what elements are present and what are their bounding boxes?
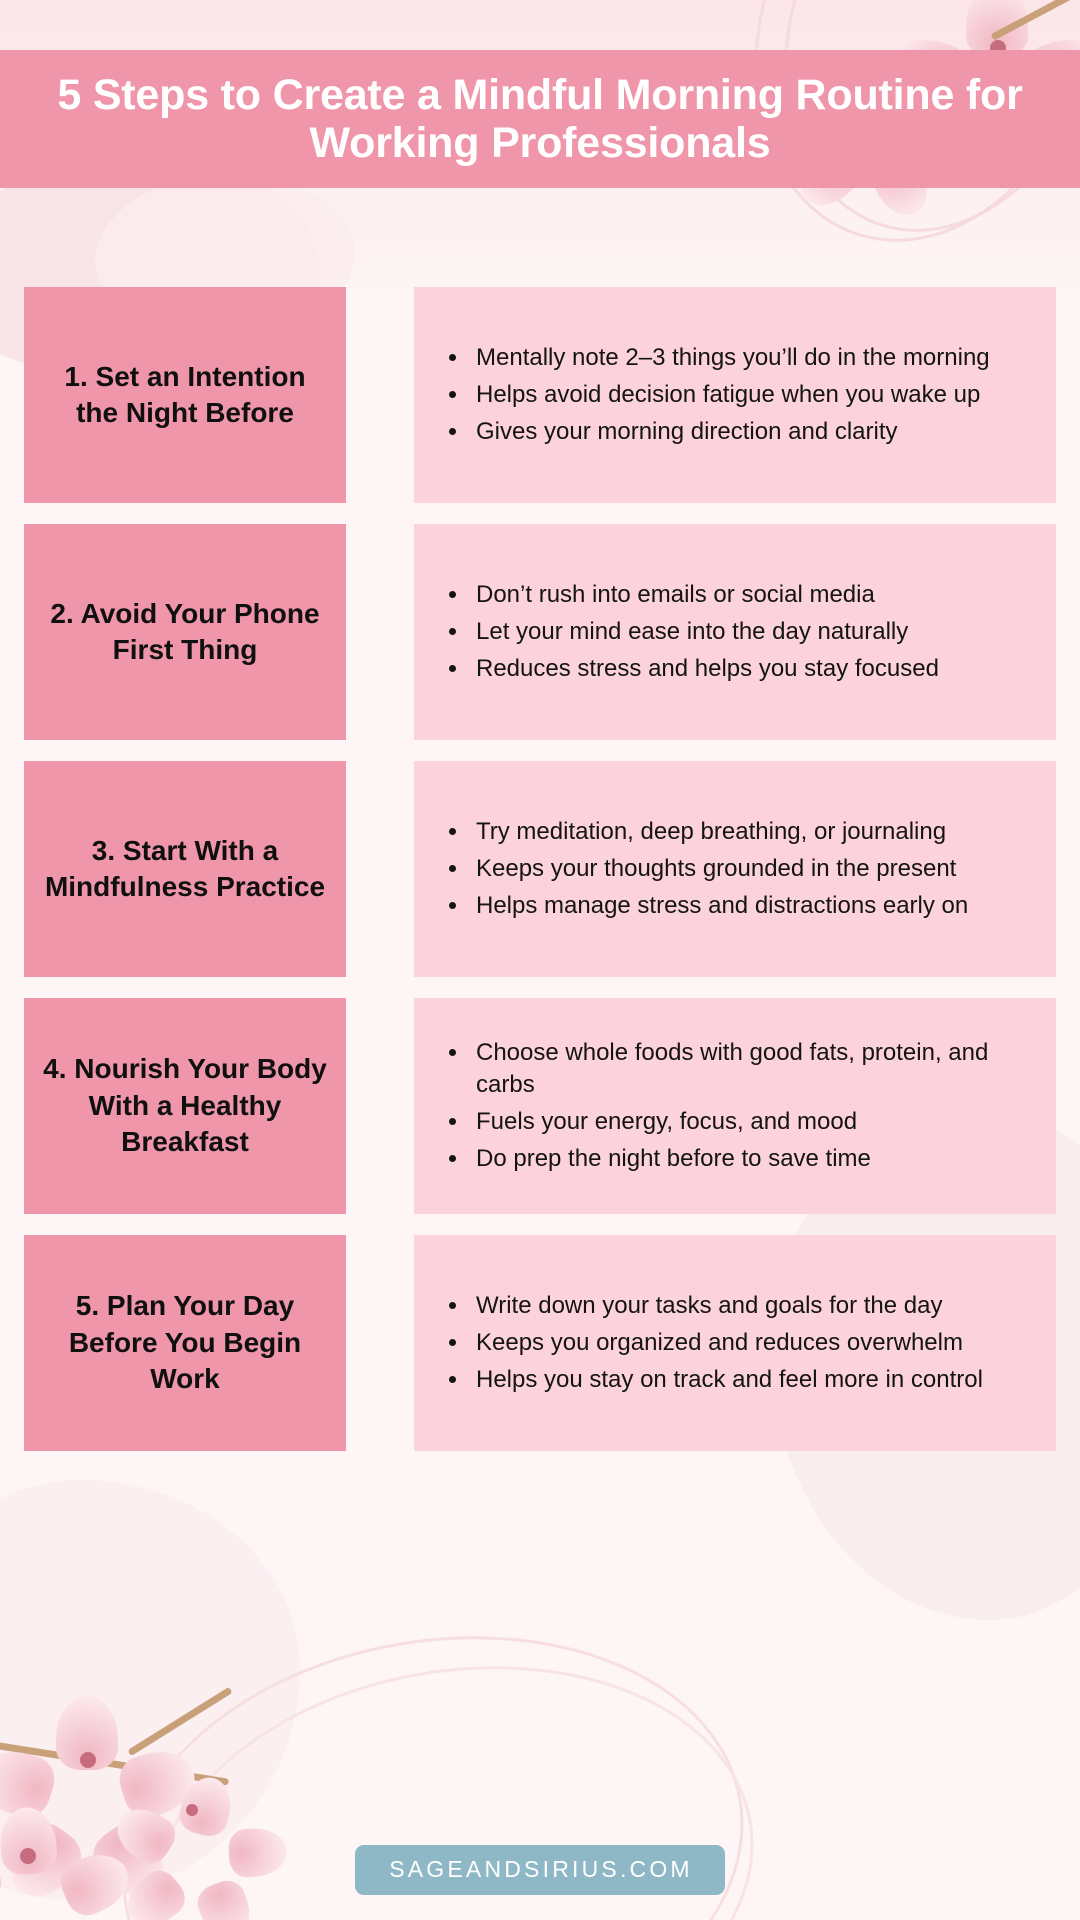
list-item: Keeps you organized and reduces overwhel… [470, 1327, 983, 1359]
row-gap [346, 287, 414, 503]
list-item: Reduces stress and helps you stay focuse… [470, 653, 939, 685]
title-banner: 5 Steps to Create a Mindful Morning Rout… [0, 50, 1080, 188]
step-heading: 5. Plan Your Day Before You Begin Work [42, 1288, 328, 1397]
row-gap [346, 998, 414, 1214]
step-title-card: 1. Set an Intention the Night Before [24, 287, 346, 503]
row-gap [346, 524, 414, 740]
step-detail-card: Choose whole foods with good fats, prote… [414, 998, 1056, 1214]
step-heading: 1. Set an Intention the Night Before [42, 359, 328, 432]
step-detail-card: Write down your tasks and goals for the … [414, 1235, 1056, 1451]
list-item: Helps manage stress and distractions ear… [470, 890, 968, 922]
list-item: Write down your tasks and goals for the … [470, 1290, 983, 1322]
list-item: Do prep the night before to save time [470, 1143, 1026, 1175]
step-row: 5. Plan Your Day Before You Begin Work W… [0, 1235, 1080, 1451]
step-bullet-list: Try meditation, deep breathing, or journ… [440, 816, 968, 922]
list-item: Mentally note 2–3 things you’ll do in th… [470, 342, 990, 374]
list-item: Helps you stay on track and feel more in… [470, 1364, 983, 1396]
step-heading: 2. Avoid Your Phone First Thing [42, 596, 328, 669]
step-bullet-list: Mentally note 2–3 things you’ll do in th… [440, 342, 990, 448]
step-bullet-list: Don’t rush into emails or social media L… [440, 579, 939, 685]
step-heading: 4. Nourish Your Body With a Healthy Brea… [42, 1051, 328, 1160]
step-title-card: 5. Plan Your Day Before You Begin Work [24, 1235, 346, 1451]
step-heading: 3. Start With a Mindfulness Practice [42, 833, 328, 906]
list-item: Choose whole foods with good fats, prote… [470, 1037, 1026, 1101]
step-title-card: 2. Avoid Your Phone First Thing [24, 524, 346, 740]
footer: SAGEANDSIRIUS.COM [0, 1845, 1080, 1895]
step-row: 4. Nourish Your Body With a Healthy Brea… [0, 998, 1080, 1214]
step-bullet-list: Write down your tasks and goals for the … [440, 1290, 983, 1396]
step-bullet-list: Choose whole foods with good fats, prote… [440, 1037, 1026, 1175]
step-row: 1. Set an Intention the Night Before Men… [0, 287, 1080, 503]
row-gap [346, 761, 414, 977]
step-row: 2. Avoid Your Phone First Thing Don’t ru… [0, 524, 1080, 740]
page-title: 5 Steps to Create a Mindful Morning Rout… [30, 71, 1050, 167]
list-item: Keeps your thoughts grounded in the pres… [470, 853, 968, 885]
row-gap [346, 1235, 414, 1451]
step-title-card: 4. Nourish Your Body With a Healthy Brea… [24, 998, 346, 1214]
list-item: Helps avoid decision fatigue when you wa… [470, 379, 990, 411]
list-item: Let your mind ease into the day naturall… [470, 616, 939, 648]
step-detail-card: Try meditation, deep breathing, or journ… [414, 761, 1056, 977]
list-item: Try meditation, deep breathing, or journ… [470, 816, 968, 848]
list-item: Gives your morning direction and clarity [470, 416, 990, 448]
steps-list: 1. Set an Intention the Night Before Men… [0, 287, 1080, 1472]
list-item: Fuels your energy, focus, and mood [470, 1106, 1026, 1138]
step-detail-card: Mentally note 2–3 things you’ll do in th… [414, 287, 1056, 503]
website-badge[interactable]: SAGEANDSIRIUS.COM [355, 1845, 725, 1895]
step-detail-card: Don’t rush into emails or social media L… [414, 524, 1056, 740]
step-title-card: 3. Start With a Mindfulness Practice [24, 761, 346, 977]
list-item: Don’t rush into emails or social media [470, 579, 939, 611]
step-row: 3. Start With a Mindfulness Practice Try… [0, 761, 1080, 977]
